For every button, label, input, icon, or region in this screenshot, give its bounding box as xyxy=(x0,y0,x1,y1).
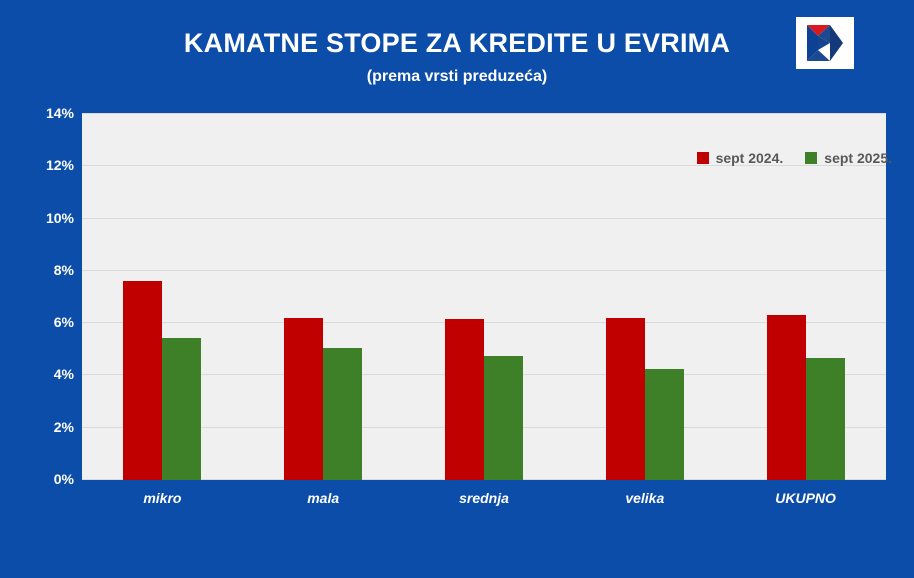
legend-label-0: sept 2024. xyxy=(716,150,784,166)
gridline-14% xyxy=(82,113,886,114)
institution-logo xyxy=(796,17,854,69)
x-axis-label-srednja: srednja xyxy=(404,490,565,506)
bar-velika-sept-2024[interactable] xyxy=(606,318,645,480)
legend-item-0[interactable]: sept 2024. xyxy=(697,150,784,166)
chart-header: KAMATNE STOPE ZA KREDITE U EVRIMA (prema… xyxy=(0,0,914,110)
bar-mikro-sept-2024[interactable] xyxy=(123,281,162,480)
y-axis-tick-14%: 14% xyxy=(8,105,74,121)
gridline-10% xyxy=(82,218,886,219)
y-axis-tick-12%: 12% xyxy=(8,157,74,173)
page-subtitle: (prema vrsti preduzeća) xyxy=(0,68,914,86)
legend-label-1: sept 2025. xyxy=(824,150,892,166)
y-axis-tick-6%: 6% xyxy=(8,314,74,330)
logo-arrow-icon xyxy=(796,17,854,69)
bar-mala-sept-2024[interactable] xyxy=(284,318,323,480)
chart-page: KAMATNE STOPE ZA KREDITE U EVRIMA (prema… xyxy=(0,0,914,578)
bar-srednja-sept-2025[interactable] xyxy=(484,356,523,480)
legend-swatch-icon-0 xyxy=(697,152,709,164)
legend-item-1[interactable]: sept 2025. xyxy=(805,150,892,166)
y-axis-tick-10%: 10% xyxy=(8,210,74,226)
page-title: KAMATNE STOPE ZA KREDITE U EVRIMA xyxy=(0,28,914,59)
bar-mala-sept-2025[interactable] xyxy=(323,348,362,480)
legend-swatch-icon-1 xyxy=(805,152,817,164)
bar-mikro-sept-2025[interactable] xyxy=(162,338,201,480)
y-axis-tick-2%: 2% xyxy=(8,419,74,435)
gridline-8% xyxy=(82,270,886,271)
plot-area xyxy=(82,114,886,480)
x-axis-label-mala: mala xyxy=(243,490,404,506)
bar-UKUPNO-sept-2025[interactable] xyxy=(806,358,845,480)
gridline-6% xyxy=(82,322,886,323)
y-axis-tick-8%: 8% xyxy=(8,262,74,278)
bar-UKUPNO-sept-2024[interactable] xyxy=(767,315,806,480)
bar-velika-sept-2025[interactable] xyxy=(645,369,684,480)
y-axis-tick-0%: 0% xyxy=(8,471,74,487)
x-axis-label-velika: velika xyxy=(564,490,725,506)
y-axis-tick-4%: 4% xyxy=(8,366,74,382)
x-axis-label-mikro: mikro xyxy=(82,490,243,506)
chart-legend: sept 2024. sept 2025. xyxy=(697,150,892,166)
x-axis-label-UKUPNO: UKUPNO xyxy=(725,490,886,506)
bar-srednja-sept-2024[interactable] xyxy=(445,319,484,480)
